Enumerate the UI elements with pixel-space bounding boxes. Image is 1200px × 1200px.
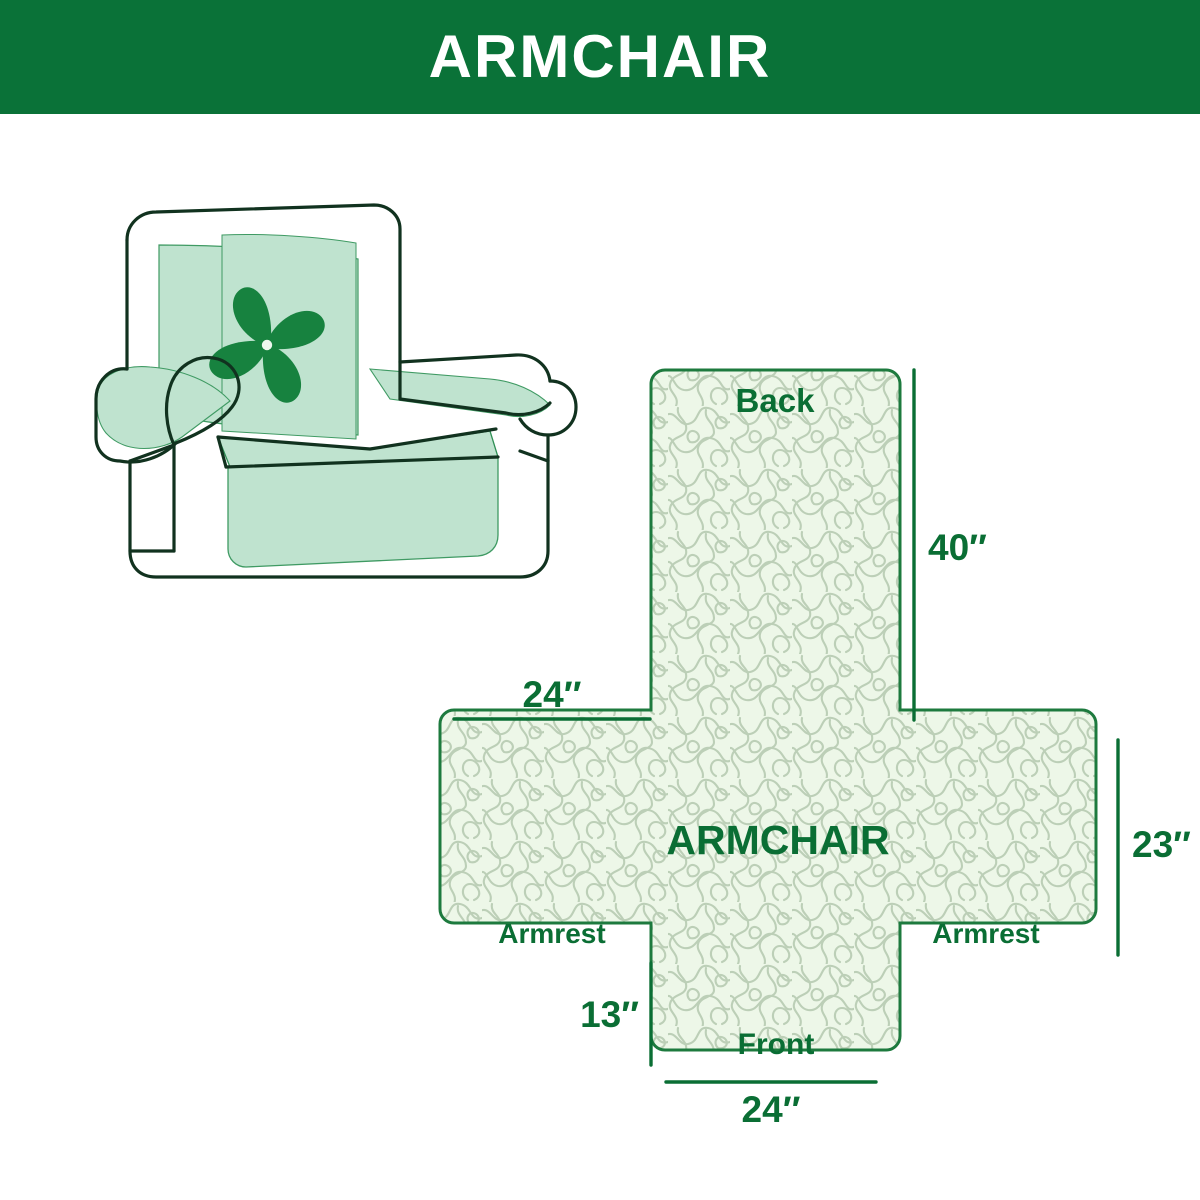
product-dimension-infographic: ARMCHAIR xyxy=(0,0,1200,1200)
label-armrest-left: Armrest xyxy=(498,918,605,949)
dimension-label-center-depth: 23″ xyxy=(1132,824,1191,865)
label-center-armchair: ARMCHAIR xyxy=(666,817,889,863)
header-banner: ARMCHAIR xyxy=(0,0,1200,114)
label-armrest-right: Armrest xyxy=(932,918,1039,949)
dimension-label-back-height: 40″ xyxy=(928,527,987,568)
page-title: ARMCHAIR xyxy=(429,27,772,87)
cover-layout-svg: Back ARMCHAIR Armrest Armrest Front xyxy=(420,344,1200,1134)
cover-layout-diagram: Back ARMCHAIR Armrest Armrest Front xyxy=(420,344,1200,1134)
dimension-label-front-height: 13″ xyxy=(580,994,639,1035)
illustration-stage: Back ARMCHAIR Armrest Armrest Front xyxy=(0,114,1200,1200)
dimension-label-armrest-width: 24″ xyxy=(523,674,582,715)
label-back: Back xyxy=(736,382,816,419)
label-front: Front xyxy=(738,1028,815,1061)
dimension-label-front-width: 24″ xyxy=(742,1089,801,1130)
